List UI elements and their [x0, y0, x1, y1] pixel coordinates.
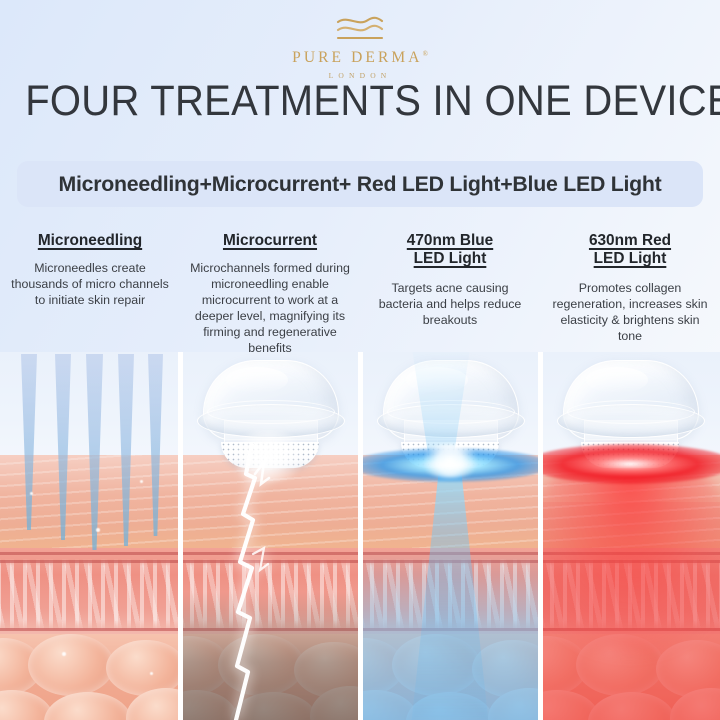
microcurrent-lightning-bolt — [228, 444, 274, 720]
panel-microneedling — [0, 352, 180, 720]
column-microneedling: Microneedling Microneedles create thousa… — [0, 232, 180, 357]
panel-divider — [358, 352, 363, 720]
fat-layer — [0, 634, 180, 720]
column-body: Targets acne causing bacteria and helps … — [368, 281, 532, 329]
brand-name: PURE DERMA® — [292, 49, 428, 67]
dermis-band — [0, 628, 180, 631]
device-ring-inner — [567, 400, 695, 424]
red-surface-glow — [540, 444, 720, 484]
infographic-poster: PURE DERMA® LONDON FOUR TREATMENTS IN ON… — [0, 0, 720, 720]
column-blue-led: 470nm Blue LED Light Targets acne causin… — [360, 232, 540, 357]
wave-lines-mark — [328, 14, 392, 48]
brand-name-text: PURE DERMA — [292, 49, 422, 66]
column-red-led: 630nm Red LED Light Promotes collagen re… — [540, 232, 720, 357]
column-title: 630nm Red — [548, 232, 712, 250]
column-microcurrent: Microcurrent Microchannels formed during… — [180, 232, 360, 357]
dermis-band — [0, 552, 180, 555]
column-title: Microneedling — [8, 232, 172, 250]
panel-blue-led — [360, 352, 540, 720]
dermis-band — [0, 560, 180, 563]
registered-mark: ® — [423, 50, 428, 58]
dermis-layer — [0, 548, 180, 638]
skin-cross-section-illustration — [0, 352, 720, 720]
device-ring-inner — [207, 400, 335, 424]
column-title: Microcurrent — [188, 232, 352, 250]
brand-logo: PURE DERMA® LONDON — [0, 14, 720, 80]
panel-divider — [538, 352, 543, 720]
panel-microcurrent — [180, 352, 360, 720]
column-body: Microneedles create thousands of micro c… — [8, 261, 172, 309]
panel-red-led — [540, 352, 720, 720]
column-body: Promotes collagen regeneration, increase… — [548, 281, 712, 345]
column-title-line2: LED Light — [368, 250, 532, 268]
treatments-pill: Microneedling+Microcurrent+ Red LED Ligh… — [17, 161, 703, 207]
blue-core-flash — [418, 444, 482, 478]
feature-columns: Microneedling Microneedles create thousa… — [0, 232, 720, 357]
fat-cells — [0, 634, 180, 720]
column-title: 470nm Blue — [368, 232, 532, 250]
panel-divider — [178, 352, 183, 720]
treatments-pill-label: Microneedling+Microcurrent+ Red LED Ligh… — [58, 172, 661, 197]
column-title-line2: LED Light — [548, 250, 712, 268]
column-body: Microchannels formed during microneedlin… — [188, 261, 352, 356]
page-title: FOUR TREATMENTS IN ONE DEVICE — [25, 80, 695, 123]
